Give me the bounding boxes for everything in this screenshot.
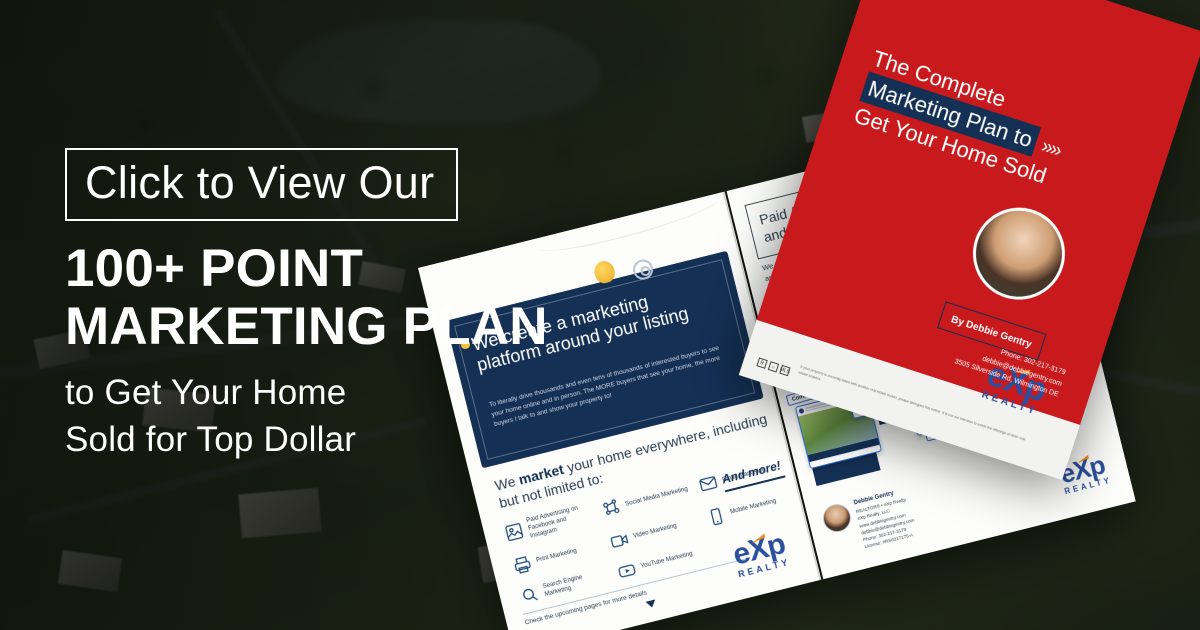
avatar xyxy=(798,408,804,414)
video-icon xyxy=(608,529,631,552)
print-icon xyxy=(511,553,534,576)
title-line-2: MARKETING PLAN xyxy=(65,299,585,355)
agent-details: Debbie Gentry REALTOR® • eXp Realty eXp … xyxy=(853,486,919,550)
subtitle-line-2: Sold for Top Dollar xyxy=(65,418,585,463)
social-media-icon xyxy=(600,497,623,520)
banner-stage: Click to View Our 100+ POINT MARKETING P… xyxy=(0,0,1200,630)
agent-avatar xyxy=(820,501,854,535)
down-triangle-icon xyxy=(646,599,657,608)
youtube-icon xyxy=(615,559,638,582)
cta-label: Click to View Our xyxy=(85,157,434,208)
channel-label: Paid Advertising on Facebook and Instagr… xyxy=(526,501,598,541)
channel-label: YouTube Marketing xyxy=(640,551,694,572)
search-engine-icon xyxy=(518,583,541,606)
channel-label: Video Marketing xyxy=(633,523,678,541)
paid-ads-icon xyxy=(503,521,526,544)
channel-label: Mobile Marketing xyxy=(730,498,778,517)
title-line-1: 100+ POINT xyxy=(65,241,585,297)
cta-button[interactable]: Click to View Our xyxy=(65,148,458,221)
mobile-icon xyxy=(705,505,728,528)
subtitle-line-1: to Get Your Home xyxy=(65,371,585,416)
channel-label: Print Marketing xyxy=(536,547,578,565)
chevron-right-icon: ›››› xyxy=(1038,135,1063,162)
headline-block: Click to View Our 100+ POINT MARKETING P… xyxy=(65,148,585,463)
email-icon xyxy=(697,473,720,496)
channel-label: Social Media Marketing xyxy=(624,485,688,508)
